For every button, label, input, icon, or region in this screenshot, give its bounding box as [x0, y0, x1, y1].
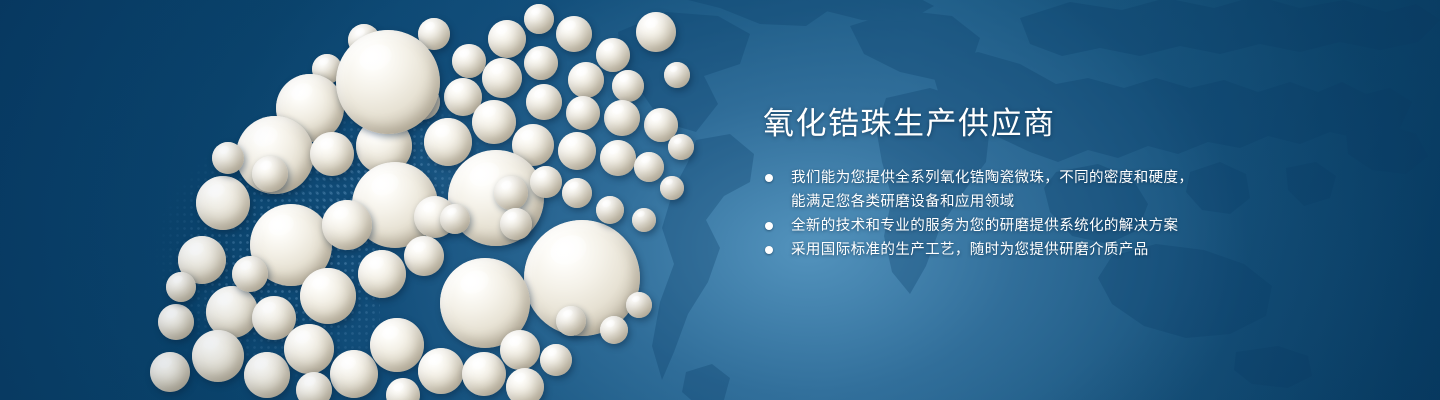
bullet-dot-icon [765, 246, 773, 254]
list-item: 全新的技术和专业的服务为您的研磨提供系统化的解决方案 [763, 214, 1383, 238]
hero-banner: 氧化锆珠生产供应商 我们能为您提供全系列氧化锆陶瓷微珠，不同的密度和硬度， 能满… [0, 0, 1440, 400]
bullet-line-1: 我们能为您提供全系列氧化锆陶瓷微珠，不同的密度和硬度， [791, 170, 1193, 186]
banner-title: 氧化锆珠生产供应商 [763, 104, 1383, 144]
bullet-dot-icon [765, 174, 773, 182]
bullet-line-1: 全新的技术和专业的服务为您的研磨提供系统化的解决方案 [791, 218, 1178, 234]
list-item: 我们能为您提供全系列氧化锆陶瓷微珠，不同的密度和硬度， 能满足您各类研磨设备和应… [763, 166, 1383, 214]
list-item: 采用国际标准的生产工艺，随时为您提供研磨介质产品 [763, 238, 1383, 262]
bullet-line-1: 采用国际标准的生产工艺，随时为您提供研磨介质产品 [791, 242, 1149, 258]
bullet-line-2: 能满足您各类研磨设备和应用领域 [791, 190, 1383, 214]
bullet-dot-icon [765, 222, 773, 230]
banner-copy-block: 氧化锆珠生产供应商 我们能为您提供全系列氧化锆陶瓷微珠，不同的密度和硬度， 能满… [763, 104, 1383, 262]
banner-feature-list: 我们能为您提供全系列氧化锆陶瓷微珠，不同的密度和硬度， 能满足您各类研磨设备和应… [763, 166, 1383, 262]
